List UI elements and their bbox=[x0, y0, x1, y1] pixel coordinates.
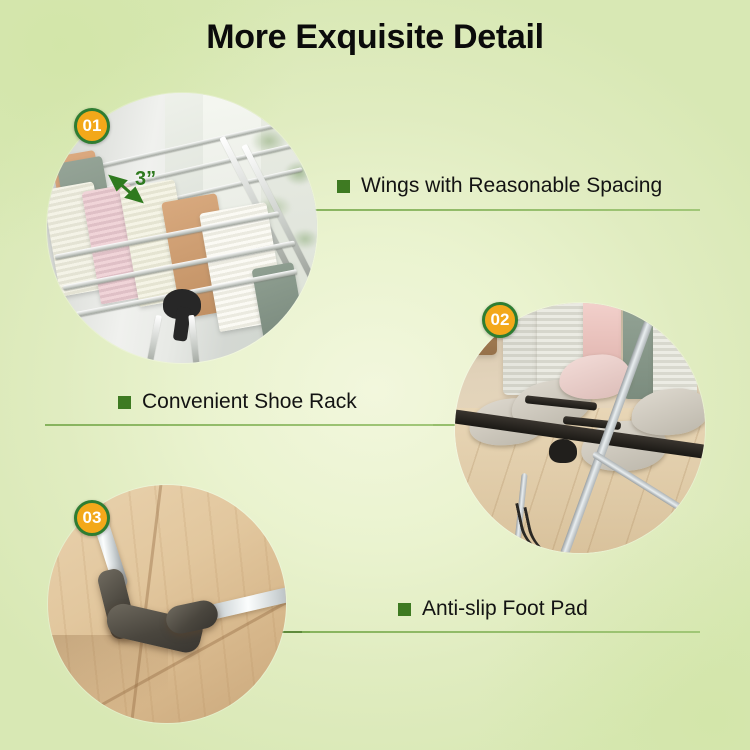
caption-rule-2 bbox=[45, 424, 457, 426]
badge-02: 02 bbox=[482, 302, 518, 338]
caption-3: Anti-slip Foot Pad bbox=[398, 597, 588, 621]
caption-1: Wings with Reasonable Spacing bbox=[337, 174, 662, 198]
bullet-square-icon bbox=[398, 603, 411, 616]
caption-rule-3 bbox=[302, 631, 700, 633]
caption-1-label: Wings with Reasonable Spacing bbox=[361, 174, 662, 198]
floor-shadow bbox=[48, 635, 168, 723]
caption-rule-1 bbox=[295, 209, 700, 211]
page-title: More Exquisite Detail bbox=[0, 18, 750, 57]
bullet-square-icon bbox=[118, 396, 131, 409]
bullet-square-icon bbox=[337, 180, 350, 193]
shoe-rack-photo bbox=[455, 303, 705, 553]
badge-03: 03 bbox=[74, 500, 110, 536]
spacing-annotation: 3” bbox=[107, 171, 169, 205]
rack-hinge bbox=[549, 439, 577, 463]
caption-2-label: Convenient Shoe Rack bbox=[142, 390, 357, 414]
caption-2: Convenient Shoe Rack bbox=[118, 390, 357, 414]
infographic-page: More Exquisite Detail bbox=[0, 0, 750, 750]
badge-01: 01 bbox=[74, 108, 110, 144]
spacing-value: 3” bbox=[135, 168, 156, 191]
caption-3-label: Anti-slip Foot Pad bbox=[422, 597, 588, 621]
